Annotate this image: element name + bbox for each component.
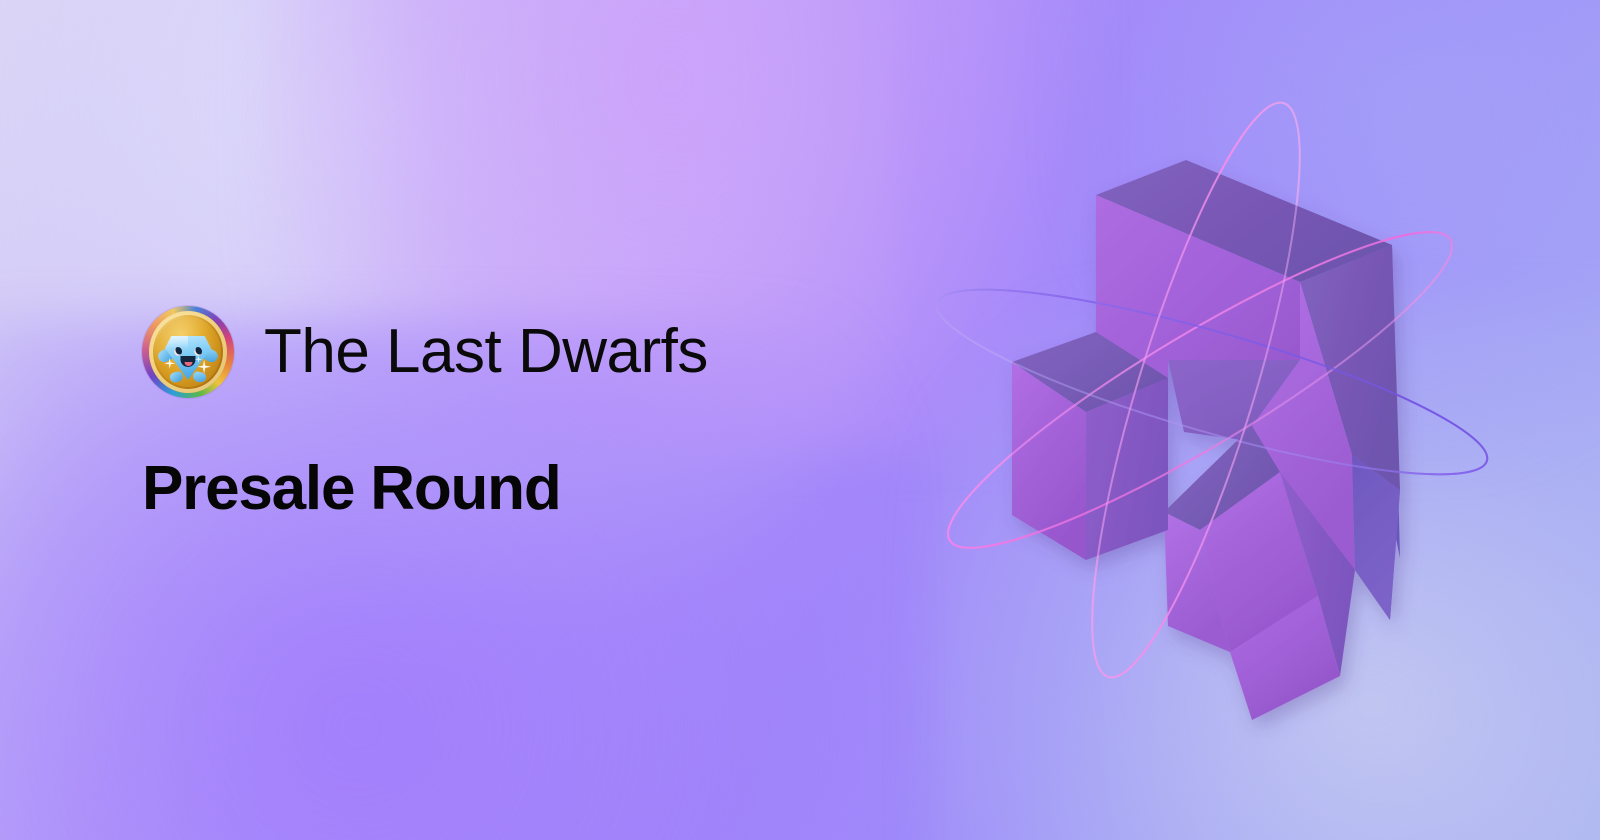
page-headline: Presale Round bbox=[142, 458, 708, 520]
brand-row: The Last Dwarfs bbox=[142, 300, 708, 404]
gem-eye-left bbox=[174, 347, 182, 356]
gem-mouth bbox=[181, 356, 196, 367]
3d-logo-artwork bbox=[900, 60, 1520, 740]
dwarf-coin-icon bbox=[142, 306, 234, 398]
gem-leg-right bbox=[192, 371, 207, 384]
coin-face bbox=[155, 317, 221, 387]
brand-block: The Last Dwarfs Presale Round bbox=[142, 300, 708, 520]
logo-solid bbox=[1012, 160, 1400, 720]
presale-banner: The Last Dwarfs Presale Round bbox=[0, 0, 1600, 840]
brand-title: The Last Dwarfs bbox=[264, 321, 708, 383]
gem-tongue bbox=[184, 362, 192, 366]
gem-leg-left bbox=[168, 371, 183, 384]
gem-eye-right bbox=[194, 347, 202, 356]
